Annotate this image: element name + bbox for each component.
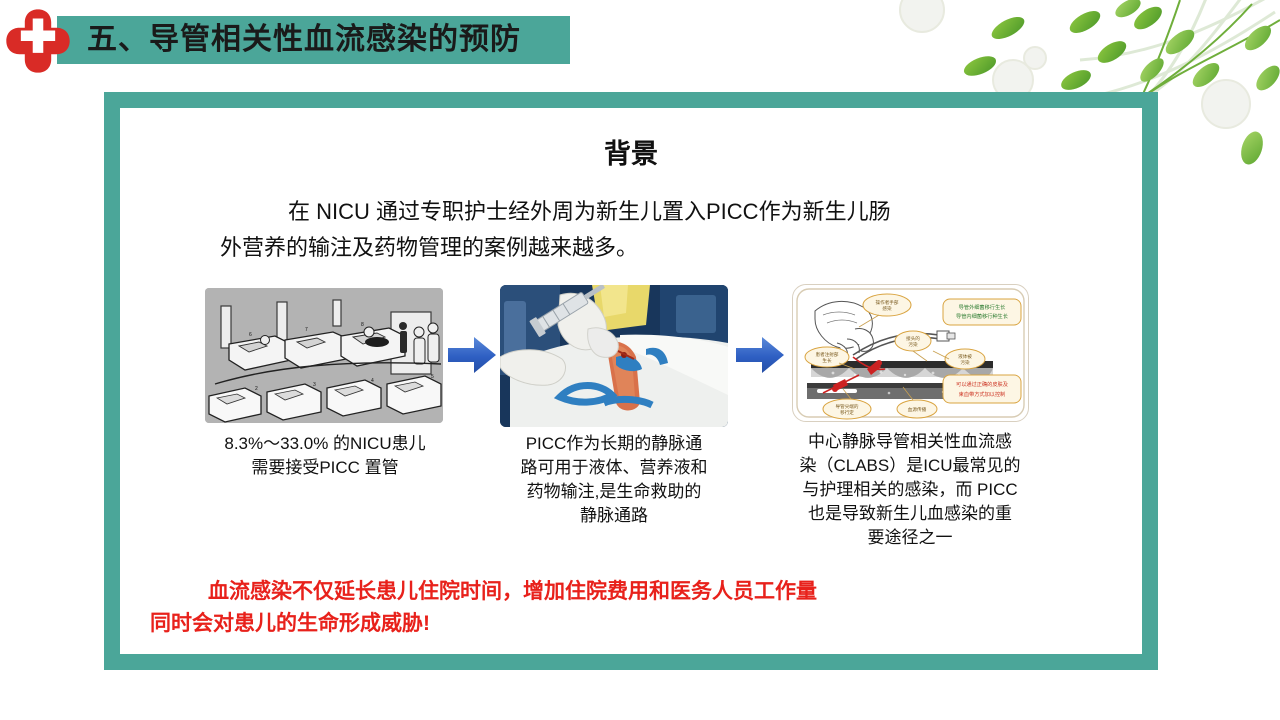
svg-text:感染: 感染 (882, 305, 892, 312)
intro-paragraph: 在 NICU 通过专职护士经外周为新生儿置入PICC作为新生儿肠 外营养的输注及… (220, 194, 1060, 266)
svg-text:患者注射部: 患者注射部 (816, 351, 839, 358)
panel-3-caption-line-2: 染（CLABS）是ICU最常见的 (799, 456, 1020, 475)
panel-2-caption: PICC作为长期的静脉通 路可用于液体、营养液和 药物输注,是生命救助的 静脉通… (492, 432, 736, 528)
emphasis-line-2: 同时会对患儿的生命形成威胁! (150, 608, 1130, 640)
svg-text:移行定: 移行定 (840, 409, 854, 416)
red-medical-cross-icon (5, 8, 71, 74)
svg-text:7: 7 (305, 327, 308, 333)
infographic-orange-line-1: 可以通过正确的皮肤及 (956, 380, 1008, 388)
right-arrow-icon (446, 335, 498, 375)
panel-1-caption-line-2: 需要接受PICC 置管 (251, 458, 398, 477)
svg-text:血源传播: 血源传播 (908, 406, 927, 413)
section-title: 背景 (120, 132, 1142, 171)
panel-3-caption-line-5: 要途径之一 (868, 528, 953, 547)
panel-2-caption-line-1: PICC作为长期的静脉通 (526, 434, 703, 453)
content-frame: 背景 在 NICU 通过专职护士经外周为新生儿置入PICC作为新生儿肠 外营养的… (104, 92, 1158, 670)
svg-text:液体被: 液体被 (958, 353, 972, 360)
right-arrow-icon (734, 335, 786, 375)
panel-1-caption-line-1: 8.3%～33.0% 的NICU患儿 (224, 434, 425, 453)
svg-text:6: 6 (249, 332, 252, 338)
panel-2-caption-line-4: 静脉通路 (580, 506, 648, 525)
svg-text:污染: 污染 (960, 359, 970, 366)
emphasis-text: 血流感染不仅延长患儿住院时间，增加住院费用和医务人员工作量 同时会对患儿的生命形… (150, 576, 1130, 640)
infographic-green-line-1: 导管外细菌移行生长 (959, 303, 1007, 311)
picc-insertion-photo (500, 285, 728, 427)
panel-3-caption-line-4: 也是导致新生儿血感染的重 (808, 504, 1012, 523)
infographic-orange-line-2: 束血带方式加以控制 (959, 390, 1006, 398)
svg-text:3: 3 (313, 382, 316, 388)
svg-text:4: 4 (371, 378, 374, 384)
panel-2-caption-line-2: 路可用于液体、营养液和 (521, 458, 708, 477)
svg-text:导管尖端的: 导管尖端的 (836, 403, 859, 410)
infographic-green-line-2: 导管内细菌移行种生长 (956, 312, 1009, 320)
panel-3-caption: 中心静脉导管相关性血流感 染（CLABS）是ICU最常见的 与护理相关的感染，而… (770, 430, 1050, 550)
svg-text:5: 5 (431, 374, 434, 380)
catheter-infection-infographic: 操作者手部感染 接头的污染 液体被污染 患者注射部生长 导管尖端的移行定 血源传… (792, 284, 1029, 422)
emphasis-line-1: 血流感染不仅延长患儿住院时间，增加住院费用和医务人员工作量 (150, 576, 1130, 608)
svg-text:污染: 污染 (908, 341, 918, 348)
nicu-ward-illustration: 678 2345 (205, 288, 443, 423)
svg-text:生长: 生长 (822, 357, 832, 364)
intro-line-1: 在 NICU 通过专职护士经外周为新生儿置入PICC作为新生儿肠 (220, 194, 891, 230)
page-title: 五、导管相关性血流感染的预防 (87, 18, 567, 62)
panel-3-caption-line-1: 中心静脉导管相关性血流感 (808, 432, 1012, 451)
svg-text:2: 2 (255, 386, 258, 392)
panel-1-caption: 8.3%～33.0% 的NICU患儿 需要接受PICC 置管 (180, 432, 470, 480)
svg-text:操作者手部: 操作者手部 (876, 299, 899, 306)
panel-2-caption-line-3: 药物输注,是生命救助的 (527, 482, 702, 501)
panel-3-caption-line-3: 与护理相关的感染，而 PICC (802, 480, 1017, 499)
intro-line-2: 外营养的输注及药物管理的案例越来越多。 (220, 235, 638, 260)
svg-text:接头的: 接头的 (906, 335, 920, 342)
svg-text:8: 8 (361, 322, 364, 328)
panel-row: 678 2345 8.3%～33.0% 的NICU患儿 需要接受PICC 置管 (120, 280, 1142, 580)
